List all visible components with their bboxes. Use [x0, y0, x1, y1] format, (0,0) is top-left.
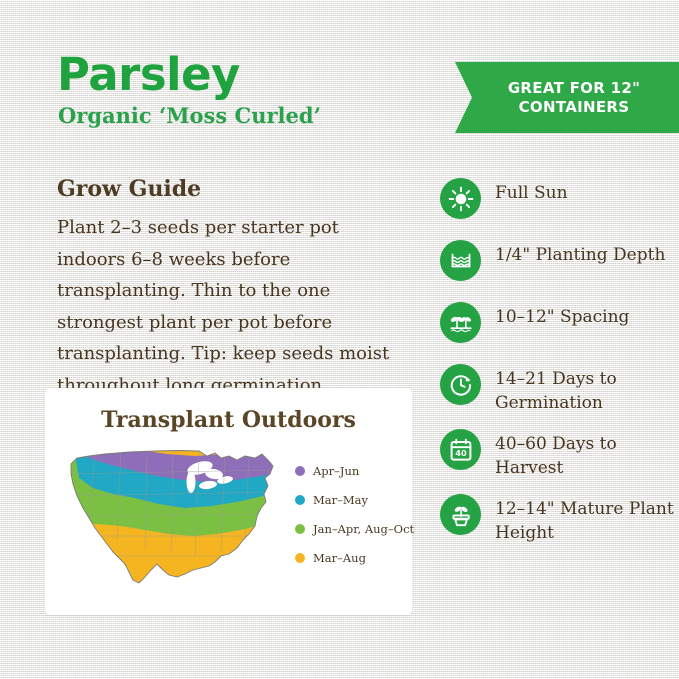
- legend-dot-green: [295, 524, 305, 534]
- legend-label-apr-jun: Apr–Jun: [313, 464, 359, 478]
- clock-icon: [440, 364, 481, 405]
- fact-row-planting-depth: 1/4" Planting Depth: [440, 240, 676, 288]
- legend-dot-amber: [295, 553, 305, 563]
- spacing-icon: [440, 302, 481, 343]
- page-title: Parsley: [57, 50, 240, 100]
- map-card-title: Transplant Outdoors: [45, 407, 412, 433]
- calendar-icon: 40: [440, 429, 481, 470]
- fact-label-full-sun: Full Sun: [495, 178, 568, 205]
- container-badge-ribbon: GREAT FOR 12" CONTAINERS: [455, 62, 679, 133]
- legend-item-mar-may: Mar–May: [295, 485, 414, 514]
- map-legend: Apr–Jun Mar–May Jan–Apr, Aug–Oct Mar–Aug: [295, 456, 414, 572]
- legend-dot-cyan: [295, 495, 305, 505]
- fact-label-harvest: 40–60 Days to Harvest: [495, 429, 676, 480]
- page-subtitle: Organic ‘Moss Curled’: [58, 103, 321, 129]
- transplant-map-card: Transplant Outdoors: [45, 388, 412, 615]
- legend-item-mar-aug: Mar–Aug: [295, 543, 414, 572]
- legend-item-jan-apr-aug-oct: Jan–Apr, Aug–Oct: [295, 514, 414, 543]
- fact-row-germination: 14–21 Days to Germination: [440, 364, 676, 415]
- legend-item-apr-jun: Apr–Jun: [295, 456, 414, 485]
- planting-depth-icon: [440, 240, 481, 281]
- potted-plant-icon: [440, 494, 481, 535]
- grow-guide-body: Plant 2–3 seeds per starter pot indoors …: [57, 212, 413, 401]
- ribbon-text: GREAT FOR 12" CONTAINERS: [494, 79, 640, 117]
- fact-row-plant-height: 12–14" Mature Plant Height: [440, 494, 676, 545]
- ribbon-line-2: CONTAINERS: [519, 98, 630, 116]
- legend-label-mar-may: Mar–May: [313, 493, 368, 507]
- grow-guide-heading: Grow Guide: [57, 176, 201, 202]
- legend-dot-purple: [295, 466, 305, 476]
- fact-label-spacing: 10–12" Spacing: [495, 302, 629, 329]
- ribbon-line-1: GREAT FOR 12": [508, 79, 640, 97]
- calendar-badge-number: 40: [455, 448, 467, 458]
- fact-row-spacing: 10–12" Spacing: [440, 302, 676, 350]
- fact-row-full-sun: Full Sun: [440, 178, 676, 226]
- fact-label-planting-depth: 1/4" Planting Depth: [495, 240, 665, 267]
- us-planting-zone-map: [59, 444, 289, 599]
- legend-label-mar-aug: Mar–Aug: [313, 551, 366, 565]
- fact-label-plant-height: 12–14" Mature Plant Height: [495, 494, 676, 545]
- fact-row-harvest: 40 40–60 Days to Harvest: [440, 429, 676, 480]
- sun-icon: [440, 178, 481, 219]
- plant-facts-list: Full Sun 1/4" Planting Depth: [440, 178, 676, 559]
- legend-label-jan-apr-aug-oct: Jan–Apr, Aug–Oct: [313, 522, 414, 536]
- fact-label-germination: 14–21 Days to Germination: [495, 364, 676, 415]
